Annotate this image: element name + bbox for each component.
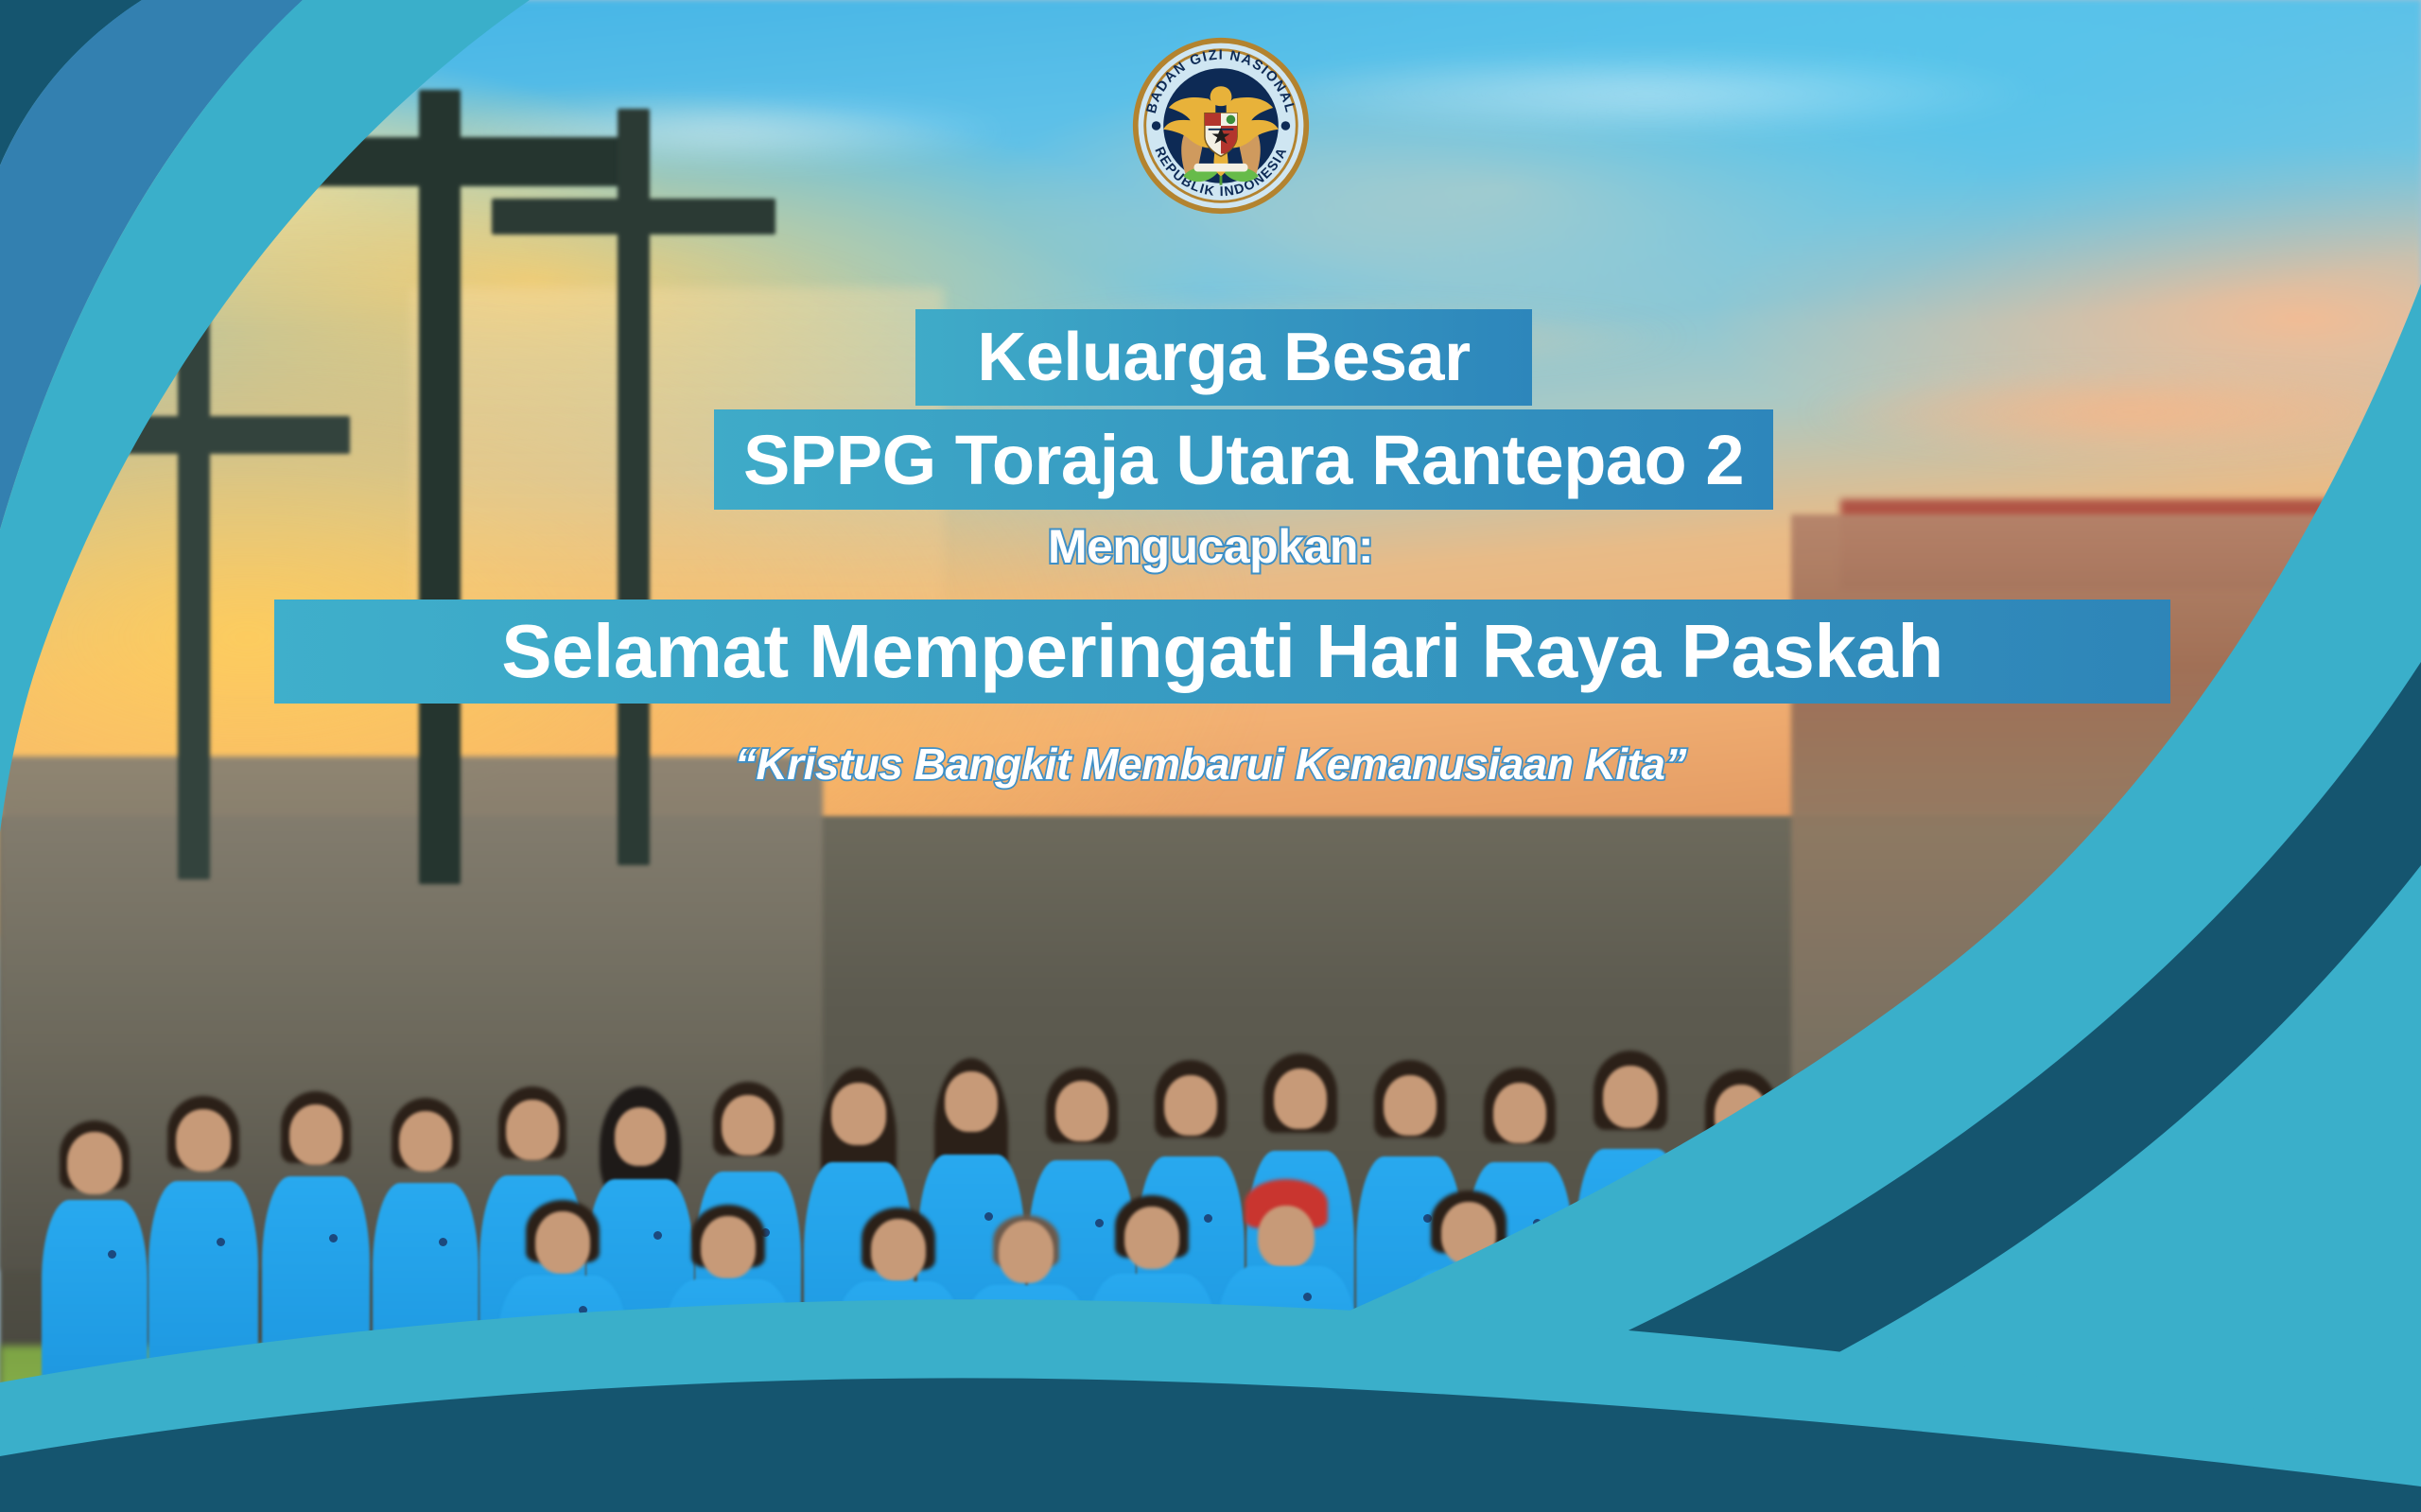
person-front xyxy=(1560,1200,1698,1512)
person-back xyxy=(371,1096,480,1512)
person-back xyxy=(260,1091,372,1512)
person-front-cap xyxy=(1215,1179,1357,1512)
badan-gizi-nasional-logo: BADAN GIZI NASIONAL REPUBLIK INDONESIA xyxy=(1131,36,1311,216)
group-photo-people xyxy=(0,846,2421,1512)
person-front xyxy=(1400,1190,1537,1512)
person-front xyxy=(496,1200,629,1512)
person-back xyxy=(38,1115,151,1512)
person-back xyxy=(147,1096,260,1512)
person-front xyxy=(1086,1195,1218,1512)
poster-canvas: BADAN GIZI NASIONAL REPUBLIK INDONESIA xyxy=(0,0,2421,1512)
person-front xyxy=(1750,1208,1887,1512)
title-line-mengucapkan: Mengucapkan: xyxy=(0,519,2421,574)
title-line-unit-name: SPPG Toraja Utara Rantepao 2 xyxy=(714,409,1773,510)
person-front xyxy=(960,1211,1092,1512)
person-back xyxy=(2232,1096,2343,1512)
person-back xyxy=(2014,1075,2126,1512)
headline-selamat-paskah: Selamat Memperingati Hari Raya Paskah xyxy=(274,600,2170,704)
logo-dot-left xyxy=(1152,121,1161,130)
tagline-quote: “Kristus Bangkit Membarui Kemanusiaan Ki… xyxy=(0,739,2421,790)
person-front xyxy=(832,1208,965,1512)
person-back xyxy=(2124,1086,2236,1512)
person-back xyxy=(1905,1077,2016,1512)
person-front xyxy=(662,1205,794,1512)
logo-dot-right xyxy=(1281,121,1291,130)
title-line-keluarga-besar: Keluarga Besar xyxy=(915,309,1532,406)
